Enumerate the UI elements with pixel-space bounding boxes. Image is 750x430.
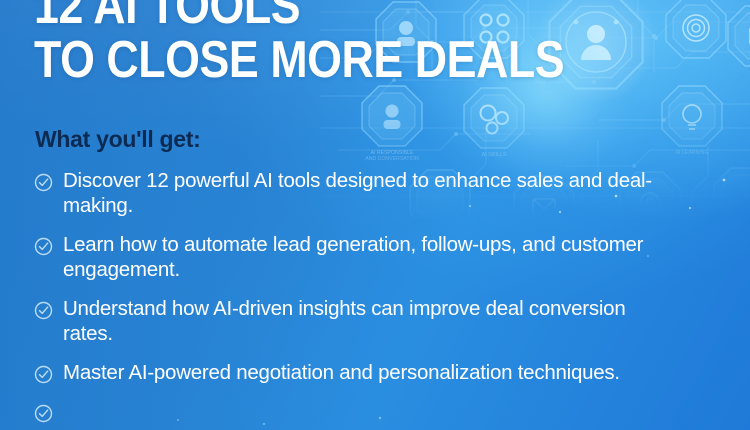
page-title: 12 AI TOOLS TO CLOSE MORE DEALS [34,0,724,87]
headline-line-1: 12 AI TOOLS [34,0,627,33]
list-item-label: Understand how AI-driven insights can im… [63,296,673,346]
list-item: Discover 12 powerful AI tools designed t… [34,168,699,218]
list-item: Understand how AI-driven insights can im… [34,296,699,346]
list-item: Learn how to automate lead generation, f… [34,232,699,282]
list-item: Master AI-powered negotiation and person… [34,360,699,385]
list-item-label: Learn how to automate lead generation, f… [63,232,673,282]
circle-check-icon [34,365,53,384]
circle-check-icon [34,404,53,423]
list-item-label: Discover 12 powerful AI tools designed t… [63,168,673,218]
subheading: What you'll get: [35,126,201,153]
circle-check-icon [34,301,53,320]
headline-line-2: TO CLOSE MORE DEALS [34,33,627,87]
benefits-list: Discover 12 powerful AI tools designed t… [34,168,699,430]
poster-content: 12 AI TOOLS TO CLOSE MORE DEALS What you… [0,0,750,430]
list-item [34,399,699,423]
promo-poster: AI RESPONSIBLE AND CONVERSATION AI SKILL… [0,0,750,430]
circle-check-icon [34,237,53,256]
list-item-label: Master AI-powered negotiation and person… [63,360,620,385]
circle-check-icon [34,173,53,192]
